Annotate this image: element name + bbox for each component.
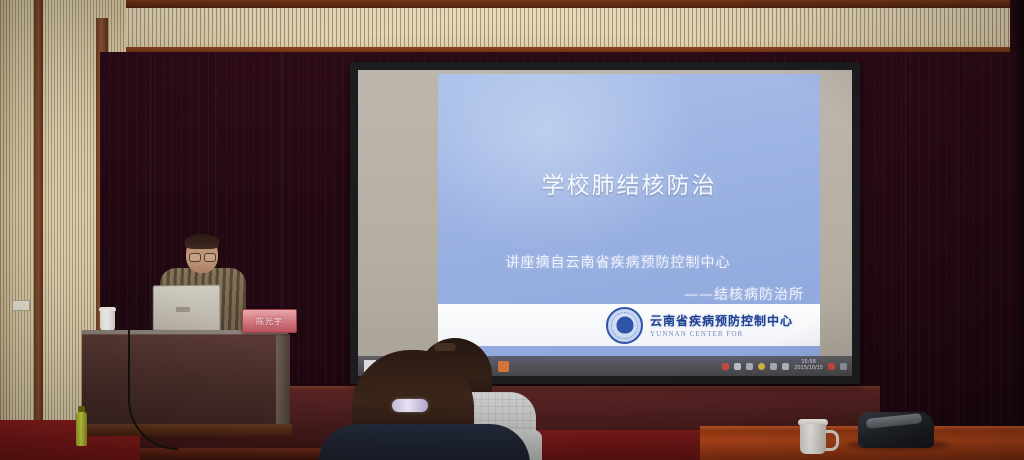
taskbar-clock[interactable]: 15:58 2015/10/15 bbox=[794, 360, 823, 372]
projector-glow bbox=[438, 74, 698, 254]
left-wall-edge-panel bbox=[0, 0, 12, 460]
tray-red-icon[interactable] bbox=[722, 363, 729, 370]
audience-member-back-hairband bbox=[434, 343, 456, 351]
mug-handle bbox=[824, 430, 839, 451]
tray-pen-icon[interactable] bbox=[734, 363, 741, 370]
podium-base bbox=[78, 424, 292, 436]
fire-extinguisher bbox=[76, 412, 87, 446]
wall-trim-strip-1 bbox=[34, 0, 43, 460]
projection-screen-frame: 学校肺结核防治 讲座摘自云南省疾病预防控制中心 ——结核病防治所 云南省疾病预防… bbox=[350, 62, 860, 384]
clock-date: 2015/10/15 bbox=[794, 366, 823, 372]
white-mug bbox=[800, 424, 826, 454]
app-icon-6[interactable] bbox=[498, 361, 509, 372]
tray-network-icon[interactable] bbox=[770, 363, 777, 370]
slide-title: 学校肺结核防治 bbox=[438, 166, 820, 200]
ceiling-acoustic-panel bbox=[60, 8, 1024, 50]
podium-cup bbox=[100, 310, 115, 332]
projection-screen-surface: 学校肺结核防治 讲座摘自云南省疾病预防控制中心 ——结核病防治所 云南省疾病预防… bbox=[358, 70, 852, 376]
tray-volume-icon[interactable] bbox=[782, 363, 789, 370]
curtain-fold bbox=[958, 52, 961, 432]
eyeglasses-icon bbox=[189, 253, 216, 260]
audience-member-front-shoulders bbox=[318, 424, 530, 460]
taskbar-system-tray: 15:58 2015/10/15 bbox=[722, 360, 847, 372]
presentation-slide: 学校肺结核防治 讲座摘自云南省疾病预防控制中心 ——结核病防治所 云南省疾病预防… bbox=[438, 74, 820, 364]
curtain-fold bbox=[905, 52, 908, 432]
podium bbox=[82, 330, 288, 432]
show-desktop-icon[interactable] bbox=[840, 363, 847, 370]
notification-icon[interactable] bbox=[828, 363, 835, 370]
presenter-nameplate: 陈光宇 bbox=[242, 309, 297, 333]
tray-chevron-icon[interactable] bbox=[746, 363, 753, 370]
cdc-emblem-icon bbox=[606, 307, 643, 344]
tray-yellow-icon[interactable] bbox=[758, 363, 765, 370]
laptop-logo-icon bbox=[176, 307, 190, 312]
lecture-hall-scene: 安全出口 学校肺结核防治 讲座摘自云南省疾病预防控制中心 ——结核病防治所 云南… bbox=[0, 0, 1024, 460]
cdc-logo-name-cn: 云南省疾病预防控制中心 bbox=[650, 312, 793, 329]
cdc-logo-name-en: YUNNAN CENTER FOR bbox=[650, 330, 793, 338]
podium-side-panel bbox=[276, 334, 290, 428]
presenter-hair bbox=[185, 234, 219, 249]
cdc-logo: 云南省疾病预防控制中心 YUNNAN CENTER FOR bbox=[606, 306, 793, 344]
audience-member-front-hairclip bbox=[392, 399, 428, 412]
nameplate-label: 陈光宇 bbox=[256, 316, 283, 327]
light-switch[interactable] bbox=[12, 300, 30, 311]
slide-subtitle-line1: 讲座摘自云南省疾病预防控制中心 bbox=[438, 252, 798, 272]
slide-subtitle-line2: ——结核病防治所 bbox=[684, 284, 804, 304]
